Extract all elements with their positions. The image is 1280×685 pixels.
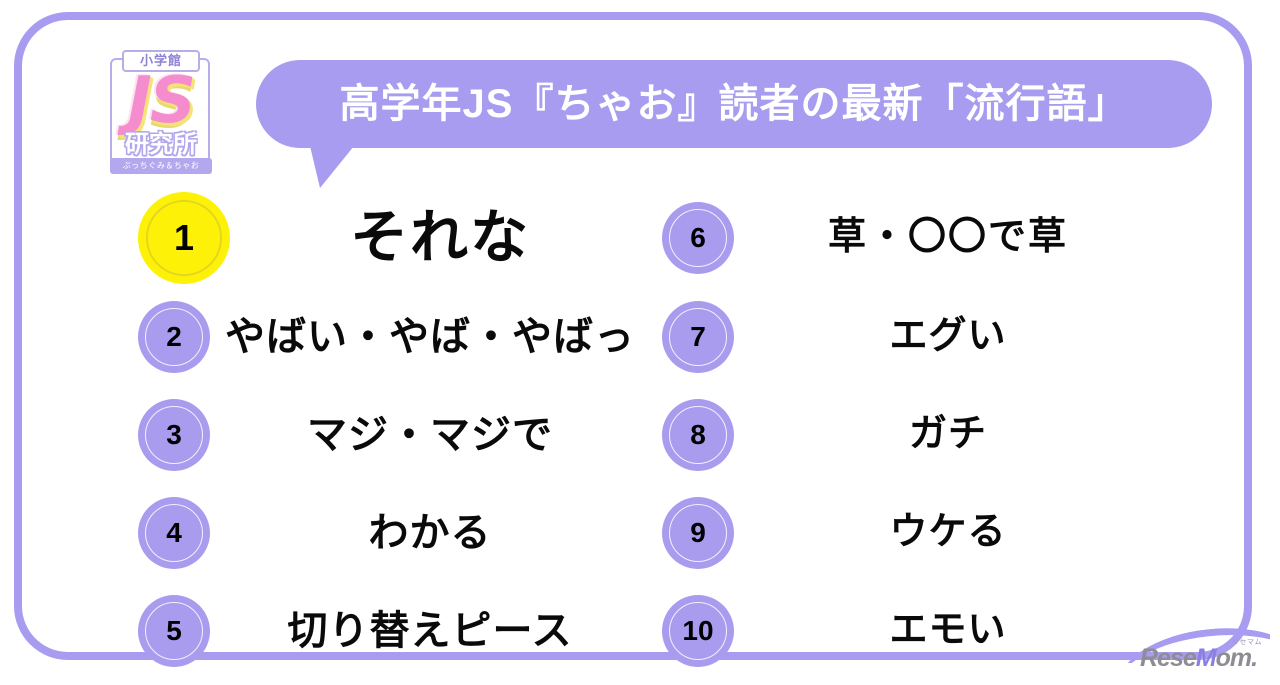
ranking-row: 8 ガチ <box>662 386 1162 484</box>
rank-badge-5: 5 <box>138 595 210 667</box>
rank-number: 4 <box>166 519 182 547</box>
logo-js-wordmark: JS <box>100 66 222 136</box>
rank-word: やばい・やば・やばっ <box>210 315 650 359</box>
rank-badge-10: 10 <box>662 595 734 667</box>
ranking-row: 9 ウケる <box>662 484 1162 582</box>
rank-word: 草・〇〇で草 <box>734 217 1162 259</box>
rank-badge-4: 4 <box>138 497 210 569</box>
title-speech-bubble: 高学年JS『ちゃお』読者の最新「流行語」 <box>256 60 1212 148</box>
js-laboratory-logo: 小学館 JS 研究所 ぷっちぐみ＆ちゃお <box>94 48 228 180</box>
rank-number: 1 <box>174 220 194 256</box>
rank-word: それな <box>230 206 650 270</box>
page-title: 高学年JS『ちゃお』読者の最新「流行語」 <box>340 84 1129 124</box>
ranking-row: 10 エモい <box>662 582 1162 680</box>
rank-badge-8: 8 <box>662 399 734 471</box>
ranking-row: 3 マジ・マジで <box>138 386 650 484</box>
watermark-brand-m: M <box>1196 644 1216 672</box>
resemom-watermark: リセマム ReseMom. <box>1128 621 1270 677</box>
ranking-row: 5 切り替えピース <box>138 582 650 680</box>
ranking-row: 2 やばい・やば・やばっ <box>138 288 650 386</box>
rank-number: 8 <box>690 421 706 449</box>
rank-word: 切り替えピース <box>210 609 650 653</box>
rank-word: わかる <box>210 511 650 555</box>
rank-badge-1: 1 <box>138 192 230 284</box>
rank-word: エグい <box>734 316 1162 358</box>
watermark-brand: ReseMom. <box>1140 646 1257 671</box>
rank-word: エモい <box>734 610 1162 652</box>
rank-word: マジ・マジで <box>210 413 650 457</box>
rank-badge-2: 2 <box>138 301 210 373</box>
rank-number: 5 <box>166 617 182 645</box>
rank-number: 2 <box>166 323 182 351</box>
rank-number: 10 <box>682 617 713 645</box>
ranking-row: 4 わかる <box>138 484 650 582</box>
logo-institute-label: 研究所 <box>108 132 214 158</box>
rank-number: 6 <box>690 224 706 252</box>
rank-number: 3 <box>166 421 182 449</box>
rank-badge-3: 3 <box>138 399 210 471</box>
ranking-row: 6 草・〇〇で草 <box>662 188 1162 288</box>
ranking-row: 1 それな <box>138 188 650 288</box>
rank-word: ウケる <box>734 512 1162 554</box>
rank-badge-7: 7 <box>662 301 734 373</box>
rank-number: 7 <box>690 323 706 351</box>
poster-frame: 小学館 JS 研究所 ぷっちぐみ＆ちゃお 高学年JS『ちゃお』読者の最新「流行語… <box>14 12 1252 660</box>
logo-ribbon-label: ぷっちぐみ＆ちゃお <box>110 158 212 174</box>
ranking-row: 7 エグい <box>662 288 1162 386</box>
speech-bubble-tail-icon <box>310 146 354 188</box>
watermark-brand-part1: Rese <box>1140 644 1196 672</box>
rank-badge-9: 9 <box>662 497 734 569</box>
rank-number: 9 <box>690 519 706 547</box>
rank-word: ガチ <box>734 414 1162 456</box>
rank-badge-6: 6 <box>662 202 734 274</box>
watermark-brand-part2: om. <box>1216 644 1257 672</box>
ranking-column-right: 6 草・〇〇で草 7 エグい 8 ガチ 9 ウケる 10 エモ <box>662 188 1162 680</box>
ranking-column-left: 1 それな 2 やばい・やば・やばっ 3 マジ・マジで 4 わかる 5 <box>138 188 650 680</box>
